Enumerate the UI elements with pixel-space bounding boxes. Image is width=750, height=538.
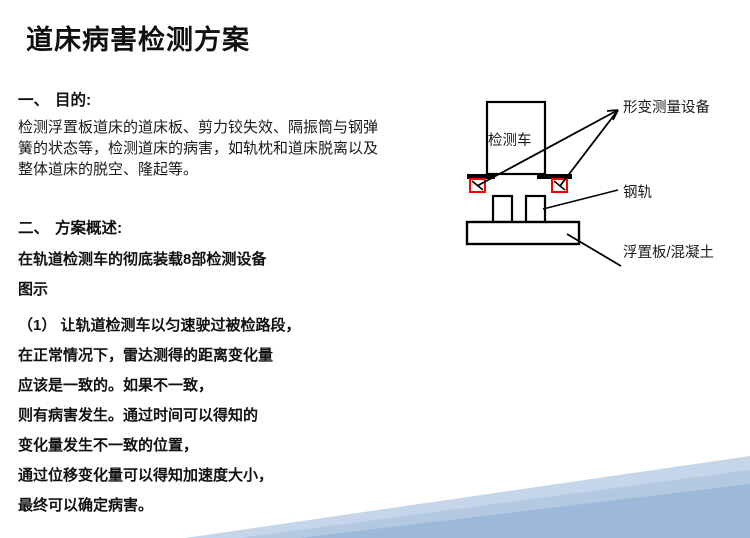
label-floating-slab: 浮置板/混凝土 (623, 241, 714, 262)
section-two-item-list: （1） 让轨道检测车以匀速驶过被检路段， 在正常情况下，雷达测得的距离变化量 应… (18, 311, 448, 521)
vehicle-label: 检测车 (488, 129, 532, 150)
section-one-number: 一、 (18, 92, 49, 109)
paragraph-line: 簧的状态等，检测道床的病害，如轨枕和道床脱离以及 (18, 138, 448, 159)
section-two-title: 方案概述: (55, 220, 122, 237)
rail-left (493, 196, 512, 222)
item-line: 在正常情况下，雷达测得的距离变化量 (18, 341, 448, 371)
floating-slab-base (467, 222, 579, 244)
section-one-title: 目的: (55, 92, 91, 109)
item-line: 通过位移变化量可以得知加速度大小， (18, 461, 448, 491)
section-one-paragraph: 检测浮置板道床的道床板、剪力铰失效、隔振筒与钢弹 簧的状态等，检测道床的病害，如… (18, 117, 448, 180)
intro-line: 图示 (18, 275, 448, 305)
item-line: 变化量发生不一致的位置， (18, 431, 448, 461)
label-deformation-device: 形变测量设备 (623, 96, 710, 117)
section-purpose: 一、目的: 检测浮置板道床的道床板、剪力铰失效、隔振筒与钢弹 簧的状态等，检测道… (18, 88, 448, 180)
item-line: （1） 让轨道检测车以匀速驶过被检路段， (18, 311, 448, 341)
page-title: 道床病害检测方案 (26, 18, 250, 57)
section-overview: 二、方案概述: 在轨道检测车的彻底装载8部检测设备 图示 （1） 让轨道检测车以… (18, 216, 448, 521)
paragraph-line: 整体道床的脱空、隆起等。 (18, 159, 448, 180)
item-line: 则有病害发生。通过时间可以得知的 (18, 401, 448, 431)
leader-line-slab (567, 234, 621, 266)
slide-canvas: 道床病害检测方案 一、目的: 检测浮置板道床的道床板、剪力铰失效、隔振筒与钢弹 … (0, 0, 750, 538)
section-two-intro: 在轨道检测车的彻底装载8部检测设备 图示 (18, 245, 448, 305)
item-line: 应该是一致的。如果不一致， (18, 371, 448, 401)
label-rail: 钢轨 (623, 181, 652, 202)
item-line: 最终可以确定病害。 (18, 491, 448, 521)
rail-right (526, 196, 545, 222)
track-inspection-diagram: 检测车 形变测量设备 钢轨 浮置板/混凝土 (455, 78, 750, 278)
intro-line: 在轨道检测车的彻底装载8部检测设备 (18, 245, 448, 275)
leader-line-sensor-right (560, 110, 618, 186)
section-two-heading: 二、方案概述: (18, 216, 448, 238)
section-one-heading: 一、目的: (18, 88, 448, 110)
paragraph-line: 检测浮置板道床的道床板、剪力铰失效、隔振筒与钢弹 (18, 117, 448, 138)
section-two-number: 二、 (18, 220, 49, 237)
